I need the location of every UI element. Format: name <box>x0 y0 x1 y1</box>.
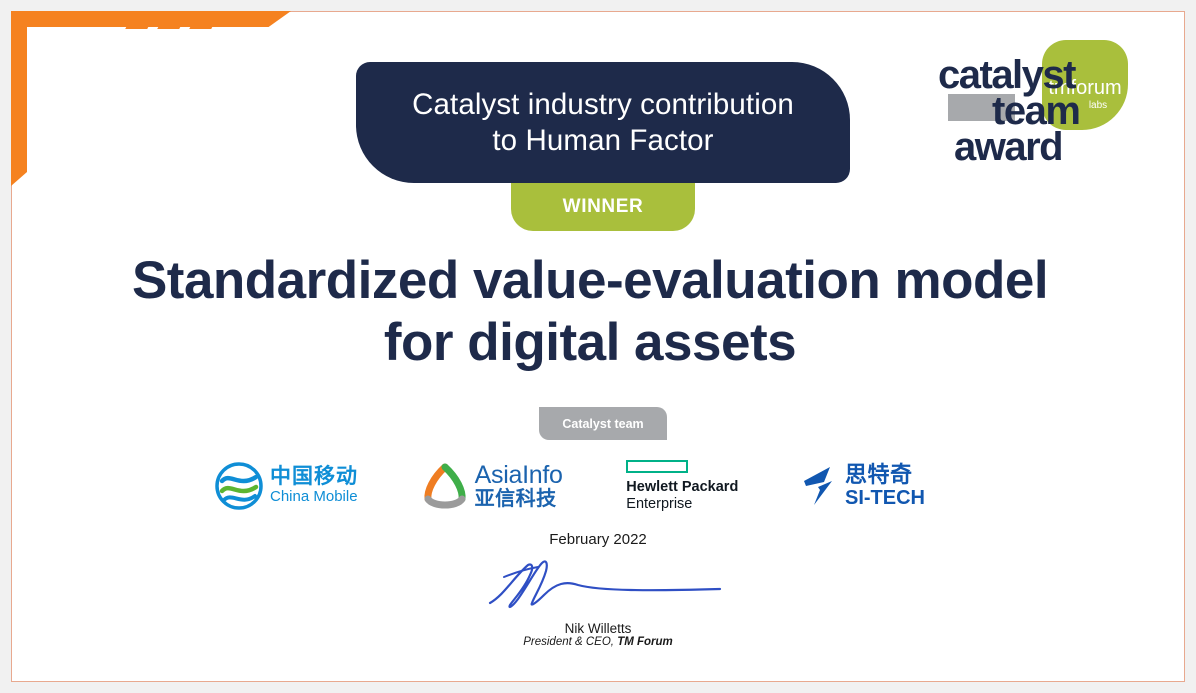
tmforum-labs-text: labs <box>1089 100 1107 111</box>
hpe-line1: Hewlett Packard <box>626 479 738 496</box>
asiainfo-cn: 亚信科技 <box>475 488 563 510</box>
hpe-line2: Enterprise <box>626 496 738 513</box>
china-mobile-wave-icon <box>215 462 263 510</box>
hpe-text-block: Hewlett Packard Enterprise <box>626 460 738 512</box>
winner-badge: WINNER <box>511 183 695 231</box>
asiainfo-text: AsiaInfo 亚信科技 <box>475 463 563 510</box>
award-category-banner: Catalyst industry contribution to Human … <box>356 62 850 183</box>
page-title: Standardized value-evaluation model for … <box>60 250 1120 374</box>
award-date: February 2022 <box>0 531 1196 548</box>
signatory-role-prefix: President & CEO, <box>523 636 617 648</box>
signatory-role-org: TM Forum <box>617 636 673 648</box>
china-mobile-text: 中国移动 China Mobile <box>270 466 358 505</box>
partner-logo-hpe: Hewlett Packard Enterprise <box>626 460 738 512</box>
china-mobile-cn: 中国移动 <box>270 466 358 488</box>
award-category-line1: Catalyst industry contribution <box>412 87 794 123</box>
catalyst-team-label: Catalyst team <box>562 417 643 431</box>
asiainfo-en: AsiaInfo <box>475 463 563 488</box>
page-title-line1: Standardized value-evaluation model <box>60 250 1120 312</box>
si-tech-cn: 思特奇 <box>845 463 925 486</box>
signatory-role: President & CEO, TM Forum <box>0 636 1196 648</box>
partner-logo-si-tech: 思特奇 SI-TECH <box>802 462 925 510</box>
partner-logo-asiainfo: AsiaInfo 亚信科技 <box>422 462 563 510</box>
award-category-text: Catalyst industry contribution to Human … <box>388 87 818 159</box>
page-title-line2: for digital assets <box>60 312 1120 374</box>
hpe-rectangle-icon <box>626 460 688 473</box>
si-tech-text: 思特奇 SI-TECH <box>845 463 925 508</box>
corner-bracket-vertical-icon <box>11 11 27 186</box>
award-certificate: tmforum labs catalyst team award Catalys… <box>0 0 1196 693</box>
si-tech-bolt-icon <box>802 462 838 510</box>
catalyst-team-award-logo: tmforum labs catalyst team award <box>930 36 1140 176</box>
china-mobile-en: China Mobile <box>270 488 358 505</box>
logo-word-award: award <box>954 125 1062 169</box>
signatory-name: Nik Willetts <box>0 621 1196 636</box>
partner-logos: 中国移动 China Mobile AsiaInfo 亚信科技 Hewlett … <box>215 452 925 520</box>
award-category-line2: to Human Factor <box>412 123 794 159</box>
signature-image <box>470 555 740 613</box>
partner-logo-china-mobile: 中国移动 China Mobile <box>215 462 358 510</box>
asiainfo-ring-icon <box>422 462 468 510</box>
si-tech-en: SI-TECH <box>845 487 925 509</box>
catalyst-team-badge: Catalyst team <box>539 407 667 440</box>
winner-label: WINNER <box>563 196 644 218</box>
